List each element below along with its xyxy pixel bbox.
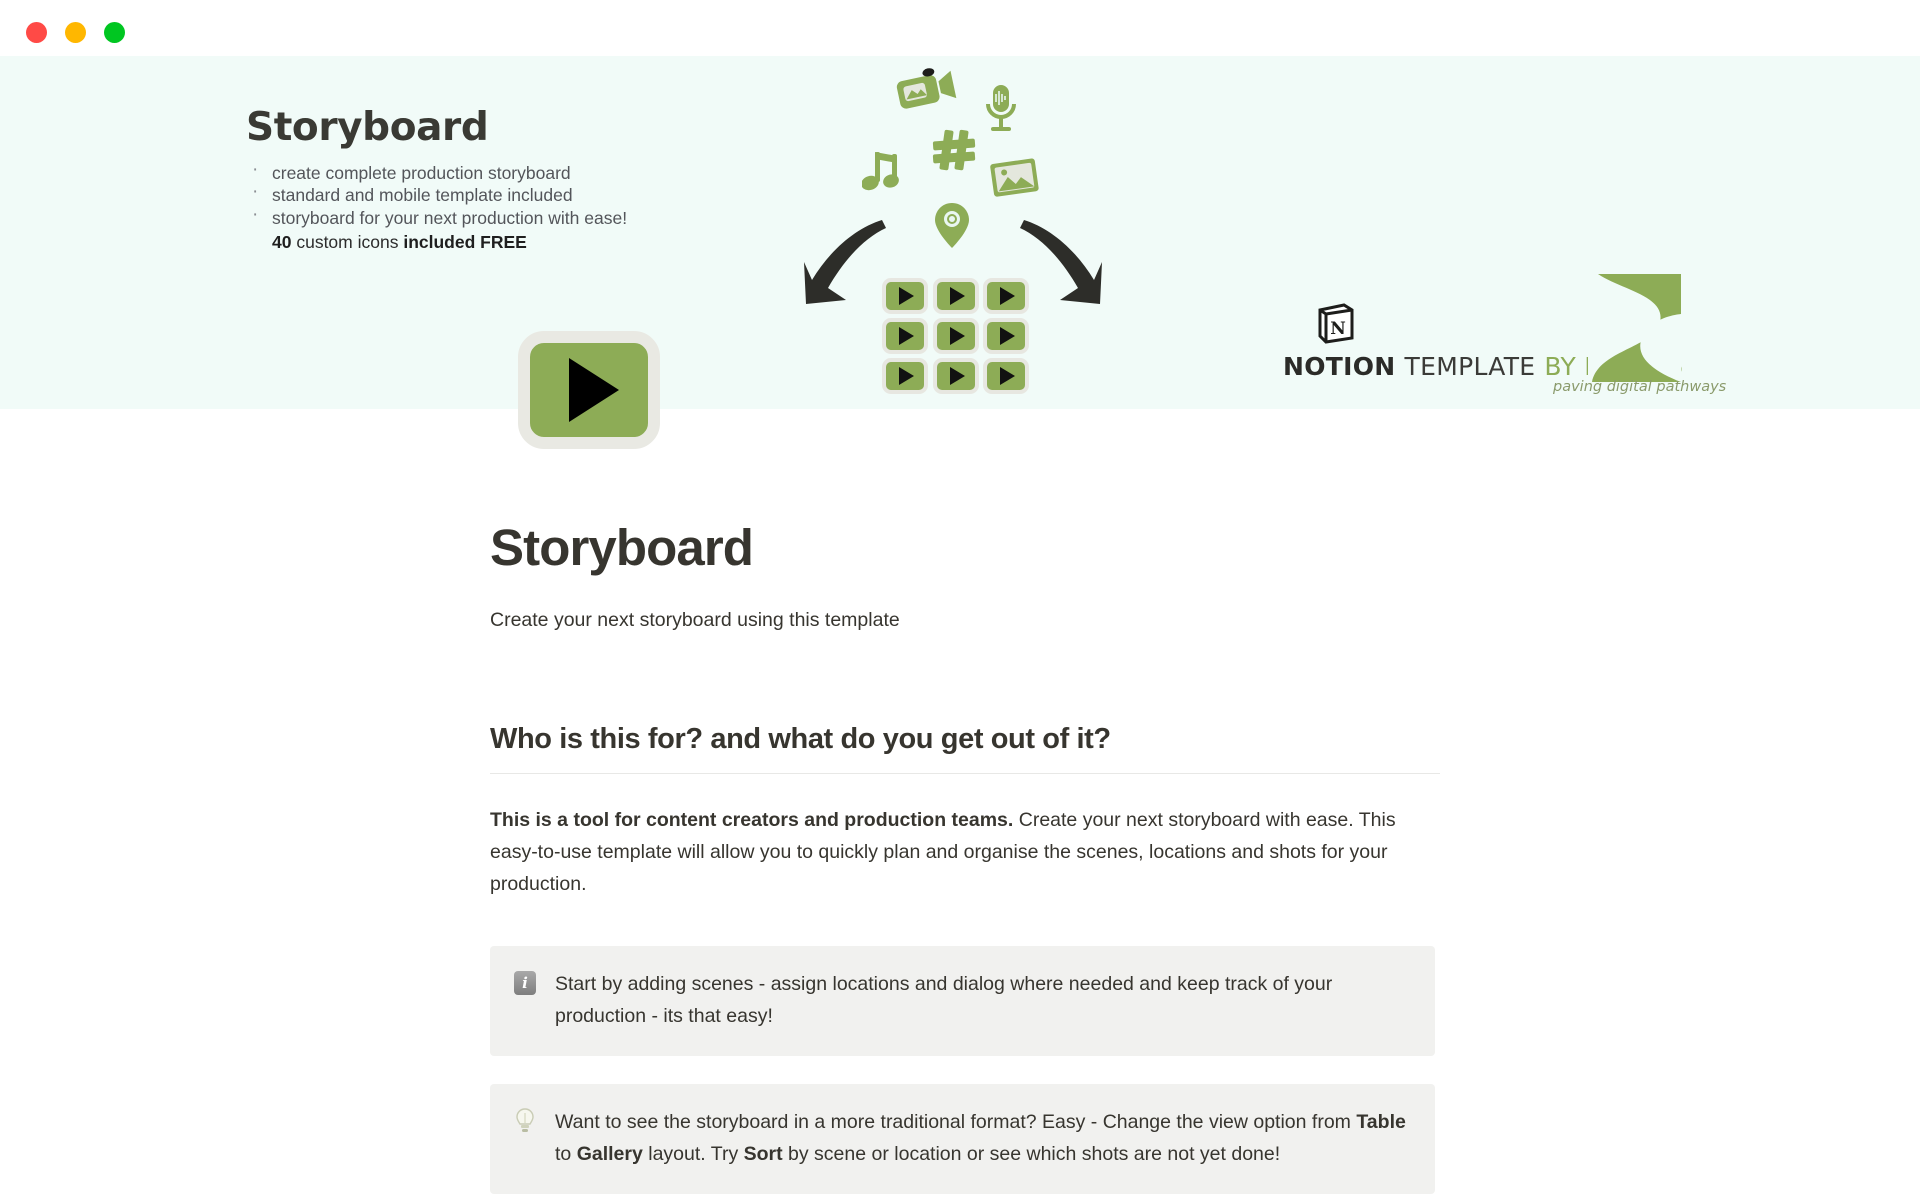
section-heading[interactable]: Who is this for? and what do you get out… <box>490 723 1440 756</box>
tip-text-part3: layout. Try <box>643 1143 744 1165</box>
tip-text-part2: to <box>555 1143 577 1165</box>
tip-bold-sort: Sort <box>744 1143 783 1165</box>
play-grid <box>882 278 1030 394</box>
wordmark-notion: NOTION <box>1283 352 1396 381</box>
info-callout[interactable]: i Start by adding scenes - assign locati… <box>490 946 1435 1056</box>
play-grid-cell <box>882 358 928 394</box>
photo-icon <box>990 158 1040 203</box>
play-grid-cell <box>933 318 979 354</box>
tip-callout[interactable]: Want to see the storyboard in a more tra… <box>490 1084 1435 1194</box>
music-note-icon <box>862 150 904 199</box>
banner-bullet: standard and mobile template included <box>246 184 716 207</box>
banner-title: Storyboard <box>246 108 716 149</box>
brand-logo-block: N NOTION TEMPLATE BY LANE25 paving digit… <box>1283 274 1703 406</box>
maximize-window-button[interactable] <box>104 22 125 43</box>
banner-free-icons-line: 40 custom icons included FREE <box>246 231 716 254</box>
play-icon <box>899 367 914 385</box>
play-grid-cell <box>983 318 1029 354</box>
play-icon <box>950 327 965 345</box>
lightbulb-icon <box>512 1106 538 1134</box>
play-grid-cell <box>882 278 928 314</box>
brand-tagline: paving digital pathways <box>1553 379 1726 395</box>
play-icon <box>950 367 965 385</box>
play-grid-cell <box>882 318 928 354</box>
intro-paragraph[interactable]: This is a tool for content creators and … <box>490 804 1430 900</box>
location-pin-icon <box>934 202 970 255</box>
app-window: Storyboard create complete production st… <box>0 0 1920 1200</box>
tip-text-part4: by scene or location or see which shots … <box>783 1143 1281 1165</box>
play-grid-cell <box>933 278 979 314</box>
play-icon <box>1000 327 1015 345</box>
play-icon <box>1000 367 1015 385</box>
camcorder-icon <box>896 68 958 117</box>
section-divider <box>490 773 1440 774</box>
page-subtitle[interactable]: Create your next storyboard using this t… <box>490 606 1440 635</box>
play-grid-cell <box>933 358 979 394</box>
tip-bold-gallery: Gallery <box>577 1143 643 1165</box>
tip-callout-text: Want to see the storyboard in a more tra… <box>555 1106 1409 1170</box>
minimize-window-button[interactable] <box>65 22 86 43</box>
play-icon <box>1000 287 1015 305</box>
page-title[interactable]: Storyboard <box>490 520 1440 576</box>
banner-bullet: storyboard for your next production with… <box>246 207 716 230</box>
play-icon <box>899 327 914 345</box>
microphone-icon <box>984 84 1018 141</box>
banner-feature-list: create complete production storyboard st… <box>246 162 716 230</box>
tip-text-part1: Want to see the storyboard in a more tra… <box>555 1111 1356 1133</box>
arrow-down-left-icon <box>802 218 888 315</box>
page-content: Storyboard Create your next storyboard u… <box>490 520 1440 1194</box>
tip-bold-table: Table <box>1356 1111 1405 1133</box>
info-callout-text: Start by adding scenes - assign location… <box>555 968 1409 1032</box>
notion-logo-icon: N <box>1316 302 1356 344</box>
banner-free-emphasis: included FREE <box>403 232 526 252</box>
banner-bullet: create complete production storyboard <box>246 162 716 185</box>
banner-illustration <box>800 62 1110 402</box>
play-button-icon <box>569 358 619 422</box>
play-grid-cell <box>983 278 1029 314</box>
play-icon <box>899 287 914 305</box>
arrow-down-right-icon <box>1018 218 1104 315</box>
page-cover-banner[interactable]: Storyboard create complete production st… <box>0 56 1920 409</box>
hashtag-icon <box>930 128 978 177</box>
window-titlebar <box>0 0 1920 56</box>
banner-free-count: 40 <box>272 232 291 252</box>
wordmark-template: TEMPLATE <box>1405 352 1536 381</box>
page-icon[interactable] <box>518 331 660 449</box>
intro-paragraph-bold: This is a tool for content creators and … <box>490 809 1013 831</box>
svg-text:N: N <box>1330 319 1346 339</box>
close-window-button[interactable] <box>26 22 47 43</box>
lane25-road-icon <box>1588 274 1681 382</box>
info-icon: i <box>512 968 538 996</box>
banner-text-block: Storyboard create complete production st… <box>246 108 716 254</box>
window-controls <box>26 22 125 43</box>
play-icon <box>950 287 965 305</box>
banner-free-middle: custom icons <box>291 232 403 252</box>
play-grid-cell <box>983 358 1029 394</box>
